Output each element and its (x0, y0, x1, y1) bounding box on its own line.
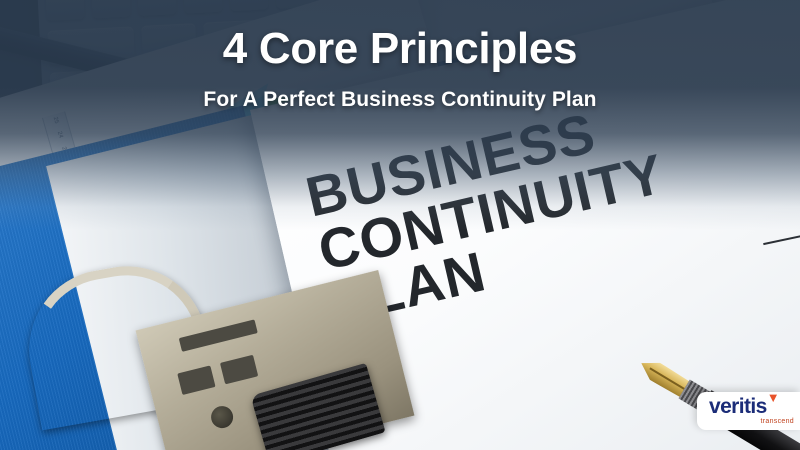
mechanism-slot (177, 365, 215, 395)
mechanism-slot (179, 319, 258, 351)
mechanism-rivet (209, 404, 236, 431)
mechanism-slot (220, 355, 258, 385)
hero-banner: 11 21 27 37 9 10 11 (0, 0, 800, 450)
headline-block: 4 Core Principles For A Perfect Business… (0, 26, 800, 111)
logo-tagline: transcend (761, 418, 794, 425)
page-title: 4 Core Principles (0, 26, 800, 72)
logo-wordmark-text: veritis (709, 395, 767, 418)
veritis-logo[interactable]: veritis ▼ transcend (697, 392, 800, 430)
logo-wordmark: veritis ▼ (709, 397, 767, 417)
logo-chevron-icon: ▼ (767, 392, 780, 403)
page-subtitle: For A Perfect Business Continuity Plan (0, 88, 800, 111)
